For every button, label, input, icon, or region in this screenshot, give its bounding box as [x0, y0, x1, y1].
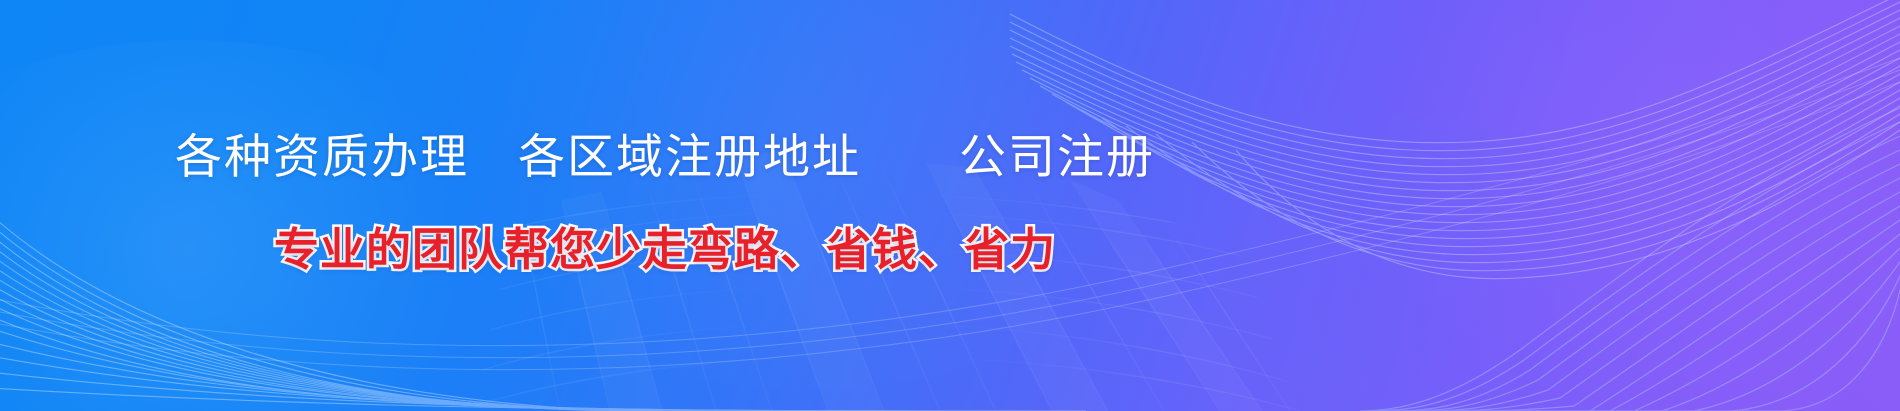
glow-blob-top-right: [1320, 0, 1900, 411]
banner-subline: 专业的团队帮您少走弯路、省钱、省力: [274, 225, 1056, 275]
banner-headline: 各种资质办理 各区域注册地址 公司注册: [175, 131, 1155, 183]
banner-text-block: 各种资质办理 各区域注册地址 公司注册 专业的团队帮您少走弯路、省钱、省力: [0, 0, 1330, 411]
promo-banner: 各种资质办理 各区域注册地址 公司注册 专业的团队帮您少走弯路、省钱、省力: [0, 0, 1900, 411]
